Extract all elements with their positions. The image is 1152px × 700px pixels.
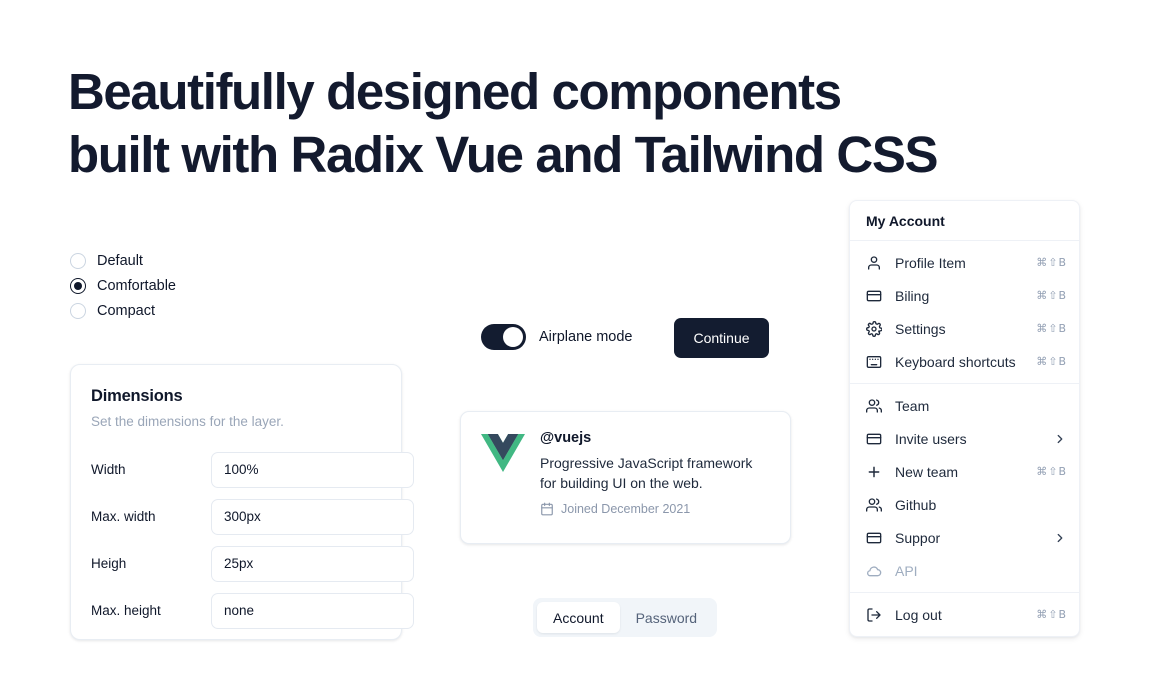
menu-item-label: Github [895, 497, 1054, 513]
radio-indicator [70, 253, 86, 269]
vue-joined-text: Joined December 2021 [561, 502, 690, 516]
menu-item-label: Profile Item [895, 255, 1023, 271]
max-height-input[interactable] [211, 593, 414, 629]
continue-button[interactable]: Continue [674, 318, 769, 358]
users-icon [865, 397, 882, 414]
menu-item-label: Settings [895, 321, 1023, 337]
airplane-mode-switch-group: Airplane mode [481, 324, 633, 350]
settings-tabs: Account Password [533, 598, 717, 637]
radio-option-comfortable[interactable]: Comfortable [70, 273, 176, 298]
field-label: Width [91, 462, 211, 477]
menu-item-api: API [850, 554, 1079, 587]
menu-item-log-out[interactable]: Log out ⌘⇧B [850, 598, 1079, 631]
vue-description: Progressive JavaScript framework for bui… [540, 453, 770, 493]
plus-icon [865, 463, 882, 480]
radio-label: Default [97, 253, 143, 269]
menu-item-label: Team [895, 398, 1054, 414]
menu-item-shortcut: ⌘⇧B [1036, 322, 1067, 335]
dimensions-title: Dimensions [91, 387, 381, 406]
chevron-right-icon [1053, 432, 1067, 446]
menu-item-label: Biling [895, 288, 1023, 304]
menu-item-github[interactable]: Github [850, 488, 1079, 521]
airplane-mode-switch[interactable] [481, 324, 526, 350]
field-label: Max. width [91, 509, 211, 524]
menu-item-label: Keyboard shortcuts [895, 354, 1023, 370]
page-title-line-1: Beautifully designed components [68, 60, 1028, 123]
credit-card-icon [865, 529, 882, 546]
field-label: Max. height [91, 603, 211, 618]
hover-card-body: @vuejs Progressive JavaScript framework … [540, 430, 770, 525]
radio-indicator [70, 303, 86, 319]
menu-item-keyboard-shortcuts[interactable]: Keyboard shortcuts ⌘⇧B [850, 345, 1079, 378]
menu-item-label: New team [895, 464, 1023, 480]
menu-group-session: Log out ⌘⇧B [850, 593, 1079, 636]
chevron-right-icon [1053, 531, 1067, 545]
menu-item-team[interactable]: Team [850, 389, 1079, 422]
gear-icon [865, 320, 882, 337]
width-input[interactable] [211, 452, 414, 488]
menu-group-team: Team Invite users New team ⌘⇧B [850, 384, 1079, 592]
menu-item-billing[interactable]: Biling ⌘⇧B [850, 279, 1079, 312]
menu-item-shortcut: ⌘⇧B [1036, 256, 1067, 269]
menu-item-shortcut: ⌘⇧B [1036, 289, 1067, 302]
vue-handle: @vuejs [540, 430, 770, 446]
logout-icon [865, 606, 882, 623]
radio-option-compact[interactable]: Compact [70, 298, 176, 323]
menu-item-label: Suppor [895, 530, 1040, 546]
menu-group-account: Profile Item ⌘⇧B Biling ⌘⇧B Settings ⌘⇧B [850, 241, 1079, 383]
switch-label: Airplane mode [539, 329, 633, 345]
vue-hover-card: @vuejs Progressive JavaScript framework … [460, 411, 791, 544]
credit-card-icon [865, 287, 882, 304]
menu-item-new-team[interactable]: New team ⌘⇧B [850, 455, 1079, 488]
page-root: Beautifully designed components built wi… [0, 0, 1152, 700]
users-icon [865, 496, 882, 513]
cloud-icon [865, 562, 882, 579]
tab-account[interactable]: Account [537, 602, 620, 633]
user-icon [865, 254, 882, 271]
radio-label: Comfortable [97, 278, 176, 294]
radio-indicator [70, 278, 86, 294]
dimensions-fields: Width Max. width Heigh Max. height [91, 446, 381, 634]
menu-item-label: API [895, 563, 1054, 579]
dimensions-card: Dimensions Set the dimensions for the la… [70, 364, 402, 640]
max-width-input[interactable] [211, 499, 414, 535]
page-title-line-2: built with Radix Vue and Tailwind CSS [68, 123, 1028, 186]
vue-joined-meta: Joined December 2021 [540, 502, 770, 516]
page-title: Beautifully designed components built wi… [68, 60, 1028, 186]
menu-item-shortcut: ⌘⇧B [1036, 355, 1067, 368]
field-row-width: Width [91, 446, 381, 493]
radio-option-default[interactable]: Default [70, 248, 176, 273]
menu-header: My Account [850, 201, 1079, 240]
credit-card-icon [865, 430, 882, 447]
menu-item-shortcut: ⌘⇧B [1036, 608, 1067, 621]
density-radio-group: Default Comfortable Compact [70, 248, 176, 323]
menu-item-label: Invite users [895, 431, 1040, 447]
menu-item-settings[interactable]: Settings ⌘⇧B [850, 312, 1079, 345]
switch-knob [503, 327, 523, 347]
menu-item-label: Log out [895, 607, 1023, 623]
dimensions-subtitle: Set the dimensions for the layer. [91, 414, 381, 429]
calendar-icon [540, 502, 554, 516]
tab-password[interactable]: Password [620, 602, 713, 633]
field-row-height: Heigh [91, 540, 381, 587]
field-row-max-width: Max. width [91, 493, 381, 540]
account-dropdown-menu: My Account Profile Item ⌘⇧B Biling ⌘⇧B [849, 200, 1080, 637]
menu-item-shortcut: ⌘⇧B [1036, 465, 1067, 478]
menu-item-profile[interactable]: Profile Item ⌘⇧B [850, 246, 1079, 279]
menu-item-invite-users[interactable]: Invite users [850, 422, 1079, 455]
menu-item-support[interactable]: Suppor [850, 521, 1079, 554]
field-row-max-height: Max. height [91, 587, 381, 634]
field-label: Heigh [91, 556, 211, 571]
vue-logo-icon [481, 433, 525, 473]
keyboard-icon [865, 353, 882, 370]
radio-label: Compact [97, 303, 155, 319]
height-input[interactable] [211, 546, 414, 582]
